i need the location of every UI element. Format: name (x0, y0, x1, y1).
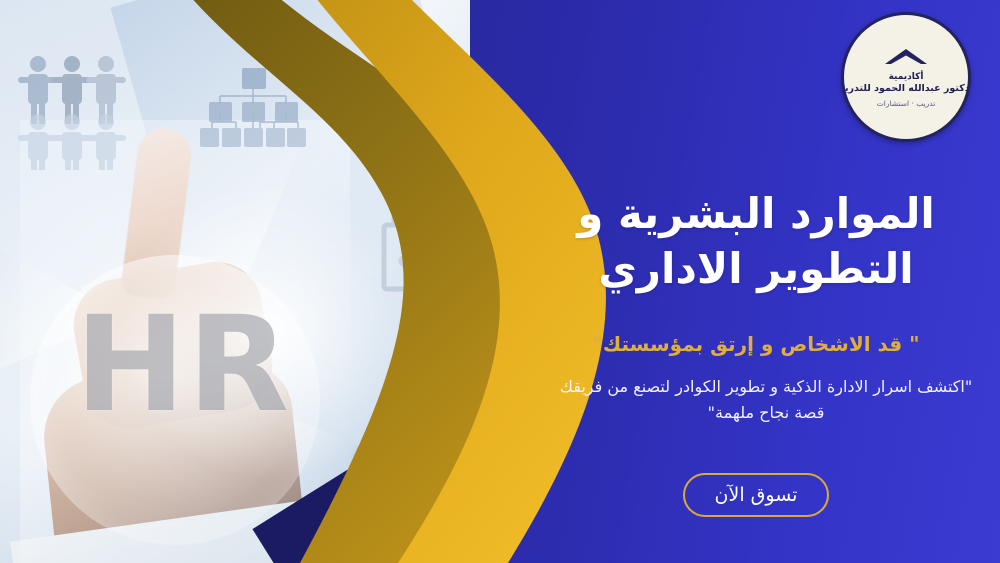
cta-container: تسوق الآن (546, 473, 966, 517)
shop-now-button[interactable]: تسوق الآن (683, 473, 830, 517)
description-line-2: قصة نجاح ملهمة" (556, 400, 976, 426)
logo-line-2: الدكتور عبدالله الحمود للتدريب (841, 83, 971, 95)
academy-logo-badge[interactable]: أكاديمية الدكتور عبدالله الحمود للتدريب … (841, 12, 971, 142)
chevron-roof-icon (883, 46, 929, 70)
tagline: " قد الاشخاص و إرتق بمؤسستك" (546, 330, 966, 358)
logo-line-1: أكاديمية (889, 72, 924, 83)
headline-line-2: التطوير الاداري (546, 241, 966, 296)
hr-promo-banner: HR (0, 0, 1000, 563)
page-title: الموارد البشرية و التطوير الاداري (546, 186, 966, 297)
logo-line-3: تدريب · استشارات (877, 99, 936, 109)
description-line-1: "اكتشف اسرار الادارة الذكية و تطوير الكو… (556, 374, 976, 400)
headline-line-1: الموارد البشرية و (546, 186, 966, 241)
description: "اكتشف اسرار الادارة الذكية و تطوير الكو… (556, 374, 976, 425)
